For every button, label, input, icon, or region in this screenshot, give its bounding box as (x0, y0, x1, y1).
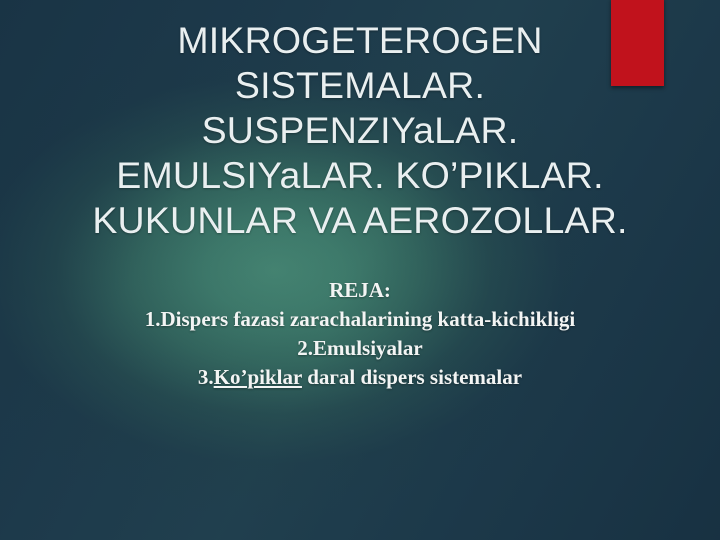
agenda-item-3-link[interactable]: Ko’piklar (214, 365, 302, 389)
agenda-item-3: 3.Ko’piklar daгal dispers sistemalar (26, 363, 694, 392)
agenda-item-3-suffix: daгal dispers sistemalar (302, 365, 522, 389)
slide-agenda: REJA: 1.Dispers fazasi zarachalarining k… (26, 276, 694, 392)
presentation-slide: MIKROGETEROGEN SISTEMALAR. SUSPENZIYaLAR… (0, 0, 720, 540)
agenda-item-1: 1.Dispers fazasi zarachalarining katta-k… (26, 305, 694, 334)
agenda-item-2: 2.Emulsiyalar (26, 334, 694, 363)
slide-title: MIKROGETEROGEN SISTEMALAR. SUSPENZIYaLAR… (14, 18, 706, 243)
agenda-heading: REJA: (26, 276, 694, 305)
agenda-item-3-prefix: 3. (198, 365, 214, 389)
